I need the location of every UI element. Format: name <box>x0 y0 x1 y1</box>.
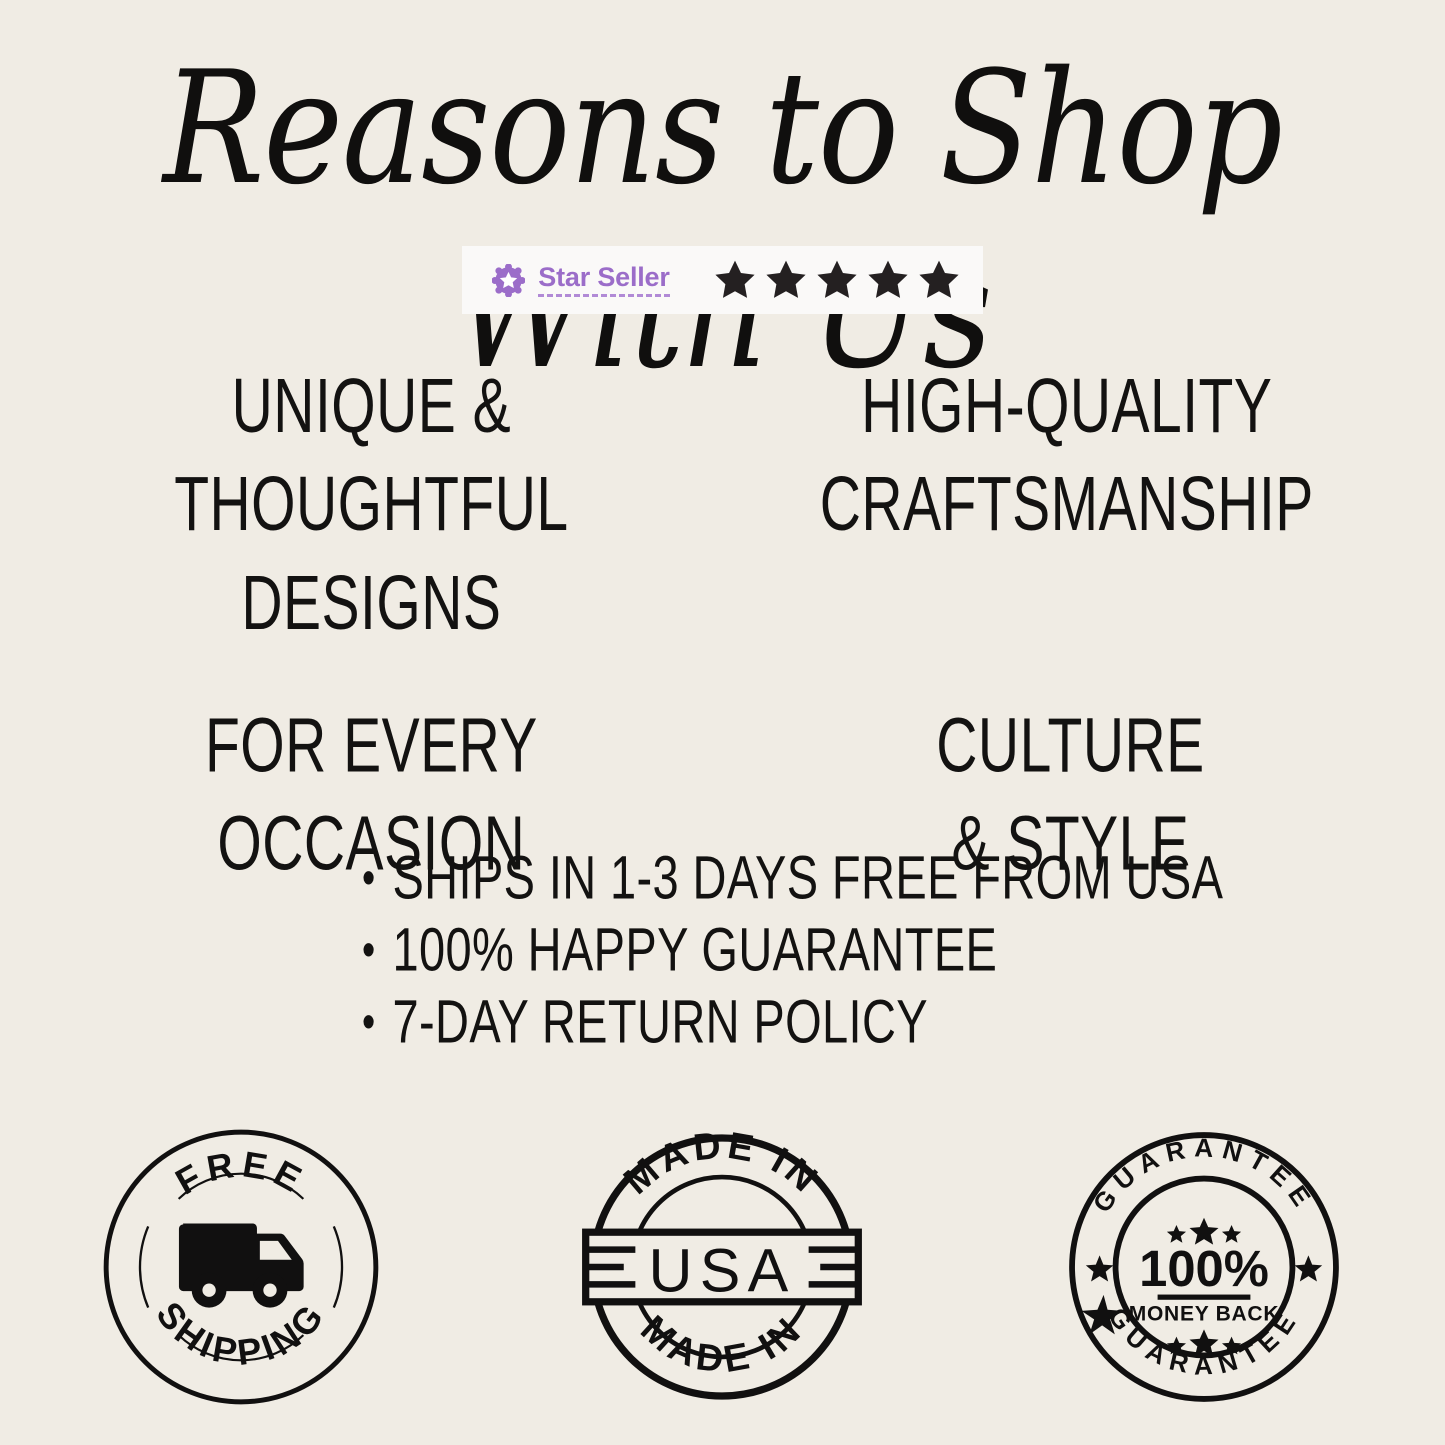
trust-badge-row: FREE SHIPPING <box>0 1122 1445 1412</box>
list-item-label: 7-DAY RETURN POLICY <box>392 989 928 1055</box>
feature-unique-designs: UNIQUE & THOUGHTFUL DESIGNS <box>29 357 694 652</box>
badge-percent-text: 100% <box>1139 1240 1269 1297</box>
feature-line: UNIQUE & <box>49 357 693 455</box>
list-item-label: 100% HAPPY GUARANTEE <box>392 917 997 983</box>
star-seller-label: Star Seller <box>538 264 669 297</box>
badge-top-text: MADE IN <box>616 1123 829 1202</box>
star-seller-row: Star Seller <box>0 246 1445 314</box>
badge-ribbon-text: USA <box>649 1237 796 1305</box>
feature-line: CULTURE <box>751 697 1388 795</box>
badge-top-text: GUARANTEE <box>1087 1132 1322 1217</box>
promo-graphic: Reasons to Shop With Us <box>0 0 1445 1445</box>
star-icon <box>1086 1255 1114 1281</box>
star-icon <box>866 259 910 301</box>
star-seller-rosette-icon <box>492 264 525 297</box>
badge-sub-text: MONEY BACK <box>1129 1303 1279 1326</box>
star-icon <box>764 259 808 301</box>
star-seller-badge: Star Seller <box>462 246 982 314</box>
star-icon <box>815 259 859 301</box>
badge-money-back-guarantee: GUARANTEE GUARANTEE 100% MONEY BACK <box>1059 1122 1349 1412</box>
feature-grid: UNIQUE & THOUGHTFUL DESIGNS HIGH-QUALITY… <box>0 386 1445 875</box>
feature-line: FOR EVERY <box>49 697 693 795</box>
badge-underline <box>1158 1295 1251 1300</box>
svg-text:MADE IN: MADE IN <box>634 1307 812 1380</box>
star-seller-label-group: Star Seller <box>462 246 688 314</box>
badge-bottom-text: MADE IN <box>634 1307 812 1380</box>
star-rating <box>691 246 983 314</box>
feature-line: THOUGHTFUL DESIGNS <box>49 456 693 653</box>
delivery-truck-icon <box>179 1224 304 1308</box>
feature-line: HIGH-QUALITY <box>751 357 1381 455</box>
bullet-icon: • <box>362 926 376 975</box>
page-title: Reasons to Shop With Us <box>0 38 1445 406</box>
svg-text:SHIPPING: SHIPPING <box>148 1294 333 1373</box>
list-item-label: SHIPS IN 1-3 DAYS FREE FROM USA <box>392 845 1223 911</box>
ribbon-banner: USA <box>586 1232 859 1304</box>
badge-free-shipping: FREE SHIPPING <box>96 1122 386 1412</box>
badge-bottom-text: SHIPPING <box>148 1294 333 1373</box>
policy-list: • SHIPS IN 1-3 DAYS FREE FROM USA • 100%… <box>0 845 1445 1043</box>
badge-made-in-usa: MADE IN MADE IN USA <box>577 1122 867 1412</box>
list-item: • 100% HAPPY GUARANTEE <box>362 917 997 983</box>
list-item: • SHIPS IN 1-3 DAYS FREE FROM USA <box>362 845 1223 911</box>
star-icon <box>713 259 757 301</box>
star-icon <box>917 259 961 301</box>
feature-high-quality: HIGH-QUALITY CRAFTSMANSHIP <box>751 357 1416 652</box>
list-item: • 7-DAY RETURN POLICY <box>362 989 928 1055</box>
svg-text:MADE IN: MADE IN <box>616 1123 829 1202</box>
bullet-icon: • <box>362 854 376 903</box>
feature-line: CRAFTSMANSHIP <box>751 456 1381 554</box>
bullet-icon: • <box>362 998 376 1047</box>
star-icon <box>1295 1255 1323 1281</box>
svg-text:GUARANTEE: GUARANTEE <box>1087 1132 1322 1217</box>
